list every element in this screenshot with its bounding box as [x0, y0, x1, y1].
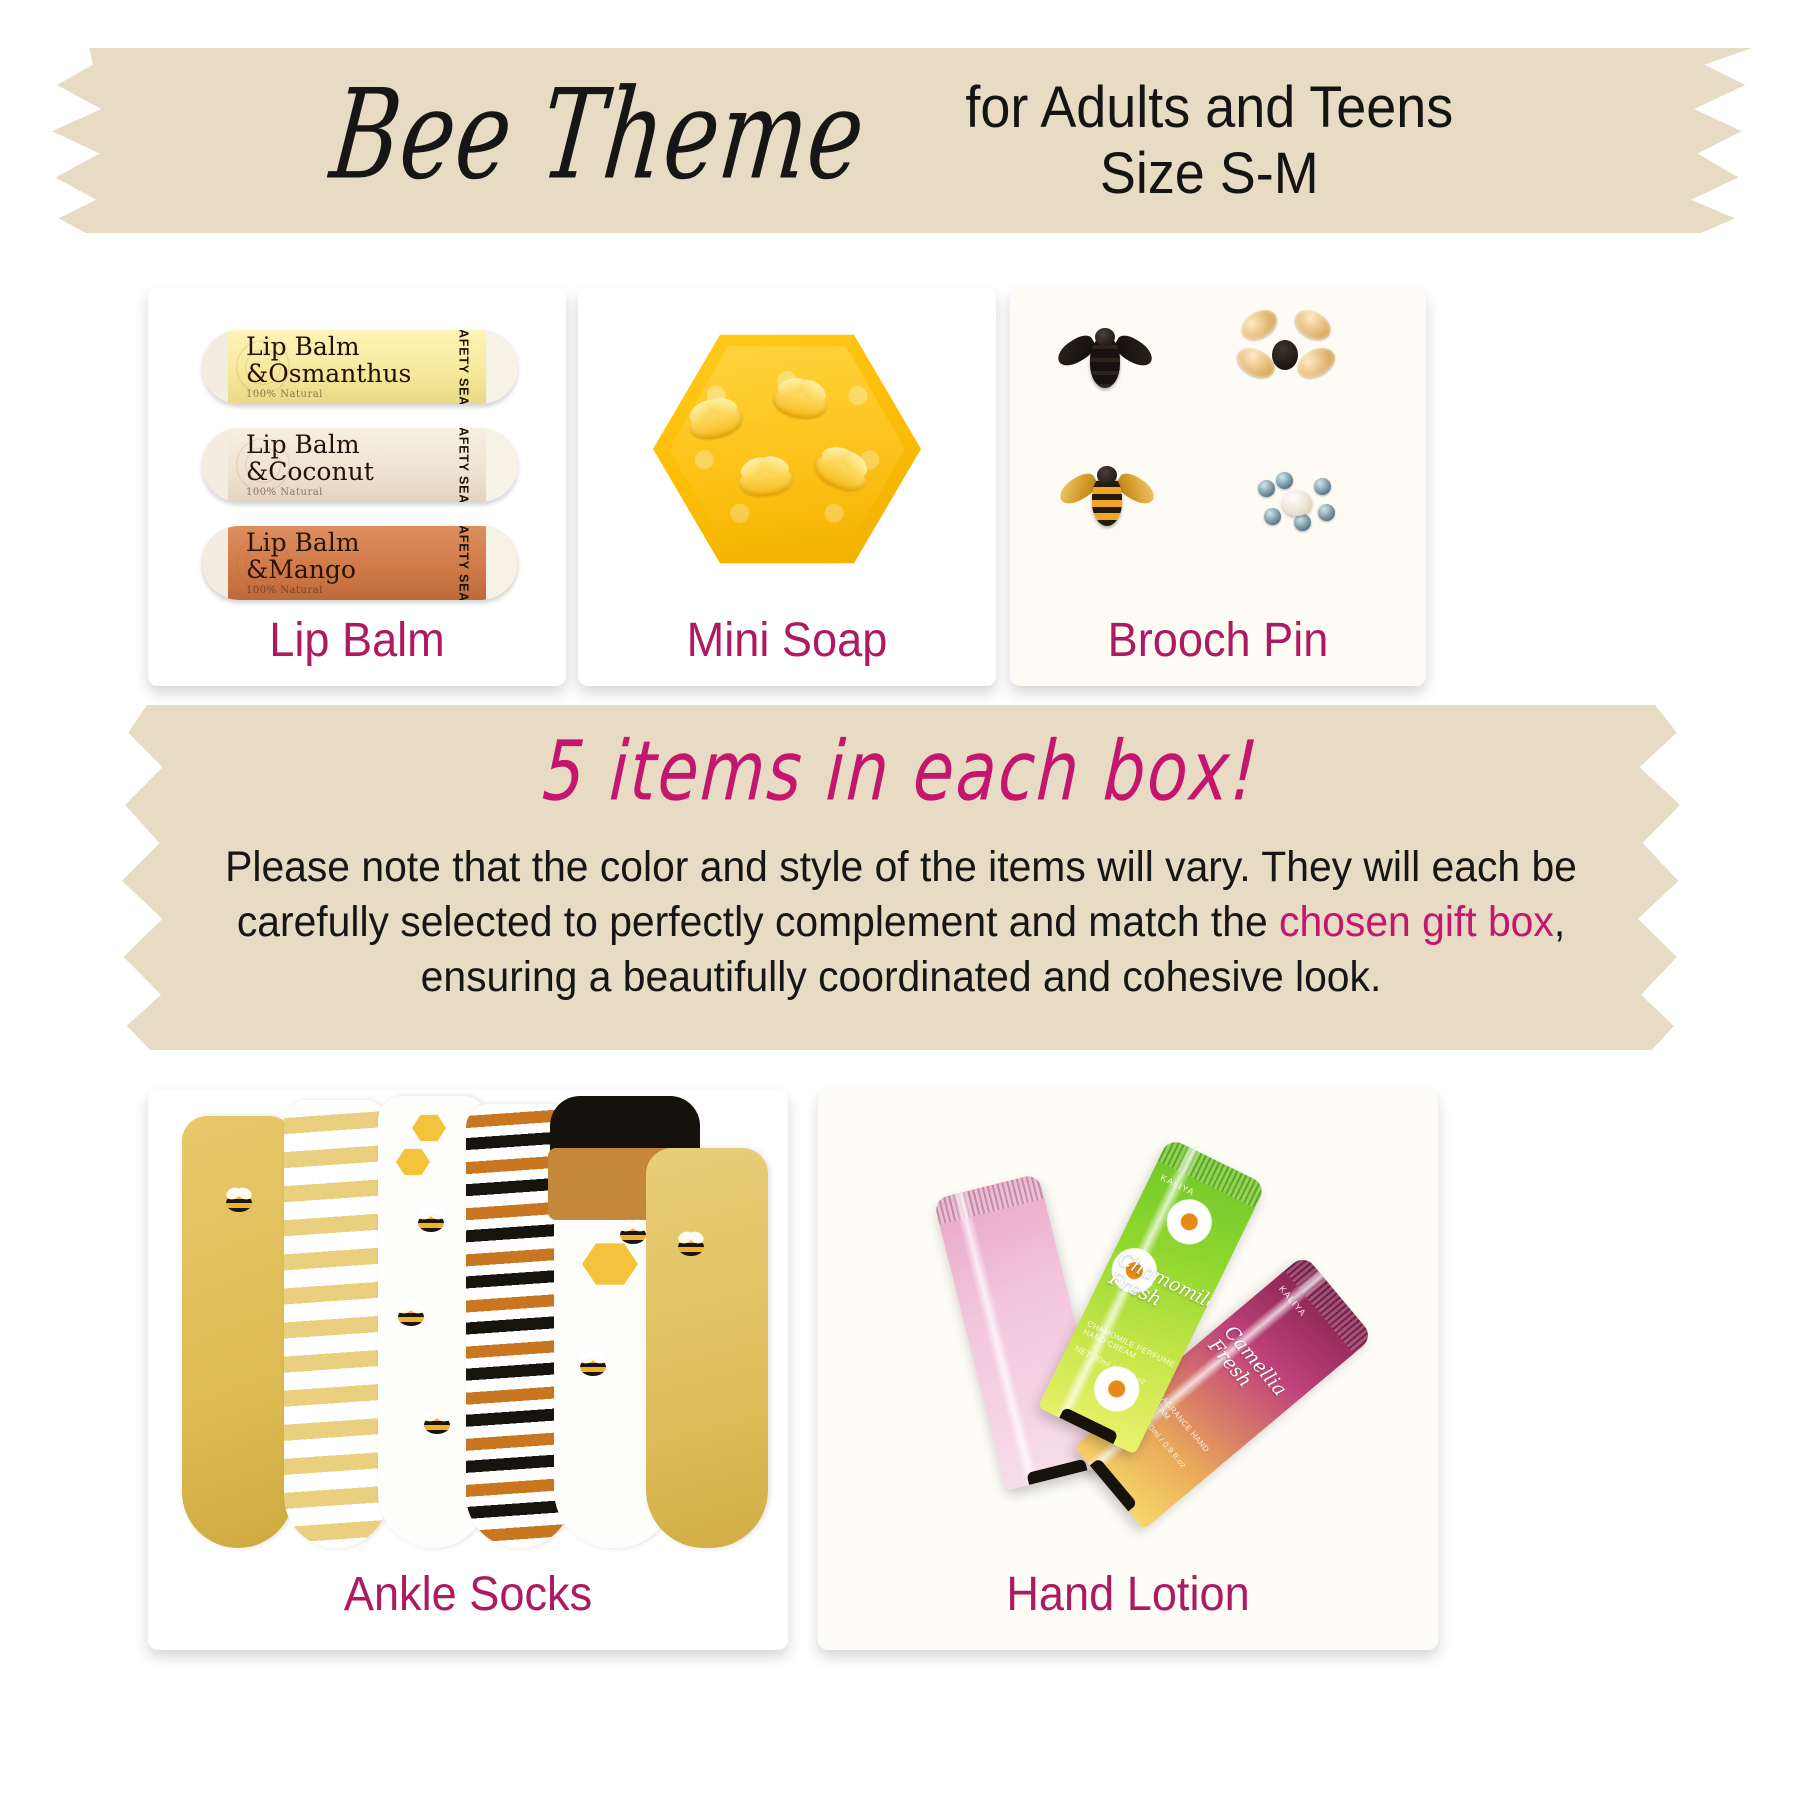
mini-soap-image — [578, 288, 996, 610]
bee-motif-icon — [398, 1308, 424, 1326]
honeycomb-motif-icon — [412, 1114, 446, 1142]
safety-seal-strip: SAFETY SEAL — [440, 526, 486, 600]
tube-gloss — [952, 1191, 1040, 1486]
gem-icon — [1318, 504, 1335, 521]
safety-seal-text: SAFETY SEAL — [456, 526, 470, 600]
tube-cap — [1026, 1459, 1093, 1491]
card-label-ankle-socks: Ankle Socks — [167, 1560, 769, 1650]
honeycomb-motif-icon — [396, 1148, 430, 1176]
tube-crimp — [933, 1173, 1044, 1224]
bee-motif-icon — [418, 1214, 444, 1232]
sock-solid-yellow — [182, 1116, 294, 1548]
tube-label-natural: 100% Natural — [246, 487, 440, 498]
tube-label-line2: &Osmanthus — [246, 361, 440, 387]
tube-label: Lip Balm &Coconut 100% Natural — [228, 428, 440, 502]
brooch-filigree-bee — [1238, 306, 1334, 402]
tube-label-line2: &Coconut — [246, 459, 440, 485]
card-label-lip-balm: Lip Balm — [161, 610, 554, 686]
bee-motif-icon — [424, 1416, 450, 1434]
bee-motif-icon — [226, 1194, 252, 1212]
gem-icon — [1294, 514, 1311, 531]
safety-seal-strip: SAFETY SEAL — [440, 428, 486, 502]
honeycomb-texture — [669, 342, 905, 556]
tube-label: Lip Balm &Mango 100% Natural — [228, 526, 440, 600]
card-label-hand-lotion: Hand Lotion — [837, 1560, 1420, 1650]
gold-filigree-bee-icon — [1238, 306, 1334, 402]
tube-label-natural: 100% Natural — [246, 389, 440, 400]
note-accent-gift-box: chosen gift box — [1279, 898, 1554, 946]
wing-lower-right — [1292, 342, 1340, 384]
lip-balm-tube-coconut: Lip Balm &Coconut 100% Natural SAFETY SE… — [202, 428, 518, 502]
info-banner-content: 5 items in each box! Please note that th… — [122, 705, 1680, 1050]
gem-icon — [1276, 472, 1293, 489]
header-subtitle-line2: Size S-M — [966, 141, 1454, 207]
header-banner: Bee Theme for Adults and Teens Size S-M — [52, 48, 1752, 233]
card-label-mini-soap: Mini Soap — [591, 610, 984, 686]
gold-bee-icon — [1064, 466, 1150, 532]
tube-cap-left — [202, 526, 228, 600]
bee-motif-icon — [620, 1226, 646, 1244]
sock-yellow-stripe — [284, 1100, 388, 1548]
gem-icon — [1258, 480, 1275, 497]
tube-cap-right — [486, 526, 518, 600]
poster-root: Bee Theme for Adults and Teens Size S-M … — [0, 0, 1800, 1800]
gem-icon — [1264, 508, 1281, 525]
header-subtitle: for Adults and Teens Size S-M — [966, 75, 1454, 206]
tube-cap-left — [202, 428, 228, 502]
honeycomb-motif-icon — [582, 1242, 638, 1286]
tube-label-line2: &Mango — [246, 557, 440, 583]
brooch-gold-bee — [1064, 466, 1150, 532]
product-card-lip-balm[interactable]: Lip Balm &Osmanthus 100% Natural SAFETY … — [148, 288, 566, 686]
bee-motif-icon — [678, 1238, 704, 1256]
tube-cap-left — [202, 330, 228, 404]
bee-body — [1272, 340, 1298, 370]
tube-label-line1: Lip Balm — [246, 432, 440, 457]
product-card-mini-soap[interactable]: Mini Soap — [578, 288, 996, 686]
bee-motif-icon — [580, 1358, 606, 1376]
brooch-pin-image — [1010, 288, 1426, 610]
page-title: Bee Theme — [325, 63, 872, 207]
tube-cap-right — [486, 330, 518, 404]
hexagon-shape — [653, 330, 921, 568]
sock-solid-yellow-2 — [646, 1148, 768, 1548]
wing-left — [1236, 304, 1282, 346]
header-content: Bee Theme for Adults and Teens Size S-M — [52, 48, 1752, 233]
product-card-brooch-pin[interactable]: Brooch Pin — [1010, 288, 1426, 686]
safety-seal-strip: SAFETY SEAL — [440, 330, 486, 404]
lip-balm-tube-osmanthus: Lip Balm &Osmanthus 100% Natural SAFETY … — [202, 330, 518, 404]
info-banner: 5 items in each box! Please note that th… — [122, 705, 1680, 1050]
pearl-jewel-bee-icon — [1254, 474, 1342, 536]
black-bee-icon — [1062, 328, 1148, 394]
brooch-black-bee — [1062, 328, 1148, 394]
hand-lotion-image: KALIYA Camellia Fresh FRAGRANCE HAND CRE… — [818, 1090, 1438, 1560]
pearl-icon — [1282, 490, 1312, 516]
wing-right — [1290, 304, 1336, 346]
disclaimer-note: Please note that the color and style of … — [218, 840, 1584, 1005]
tube-label-line1: Lip Balm — [246, 530, 440, 555]
brooch-pearl-jewel-bee — [1254, 474, 1342, 536]
honeycomb-soap-icon — [653, 330, 921, 568]
header-subtitle-line1: for Adults and Teens — [966, 75, 1454, 141]
gem-icon — [1314, 478, 1331, 495]
items-count-headline: 5 items in each box! — [540, 723, 1262, 819]
tube-cap-right — [486, 428, 518, 502]
lip-balm-image: Lip Balm &Osmanthus 100% Natural SAFETY … — [148, 288, 566, 610]
product-card-hand-lotion[interactable]: KALIYA Camellia Fresh FRAGRANCE HAND CRE… — [818, 1090, 1438, 1650]
tube-label: Lip Balm &Osmanthus 100% Natural — [228, 330, 440, 404]
bee-head — [1097, 466, 1117, 484]
safety-seal-text: SAFETY SEAL — [456, 428, 470, 502]
product-card-ankle-socks[interactable]: Ankle Socks — [148, 1090, 788, 1650]
tube-label-natural: 100% Natural — [246, 585, 440, 596]
bee-head — [1095, 328, 1115, 346]
safety-seal-text: SAFETY SEAL — [456, 330, 470, 404]
tube-label-line1: Lip Balm — [246, 334, 440, 359]
card-label-brooch-pin: Brooch Pin — [1022, 610, 1413, 686]
ankle-socks-image — [148, 1090, 788, 1560]
lip-balm-tube-mango: Lip Balm &Mango 100% Natural SAFETY SEAL — [202, 526, 518, 600]
